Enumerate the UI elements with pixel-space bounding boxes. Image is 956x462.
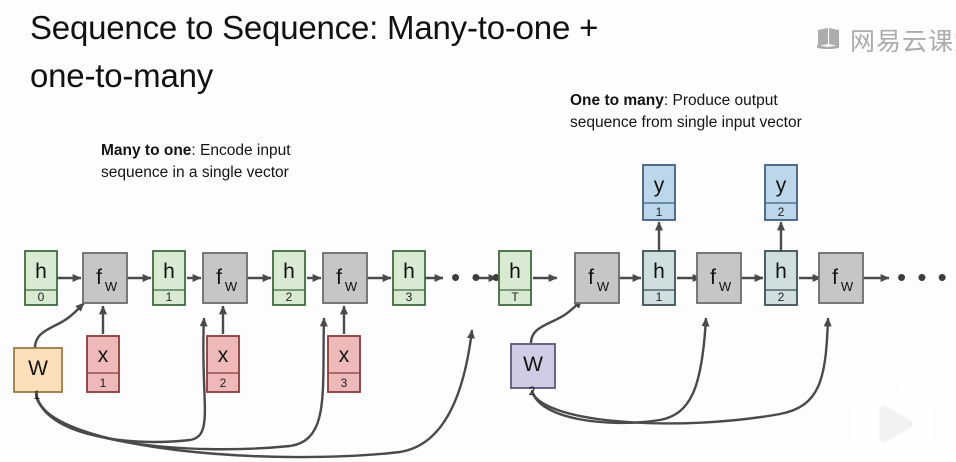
decoder-weight-w2: W 2 <box>511 344 555 398</box>
hidden-label: h <box>653 260 665 283</box>
weight-label: W <box>523 353 543 376</box>
cell-label: f <box>216 266 222 289</box>
encoder-cell-2: f W <box>323 253 367 303</box>
hidden-sub: T <box>511 290 519 304</box>
encoder-cell-1: f W <box>203 253 247 303</box>
encoder-cell-0: f W <box>83 253 127 303</box>
input-sub: 2 <box>220 376 227 390</box>
encoder-hidden-h0: h 0 <box>25 251 57 305</box>
hidden-sub: 2 <box>778 290 785 304</box>
weight-sub: 2 <box>529 384 536 398</box>
cell-label: f <box>336 266 342 289</box>
cell-sub: W <box>597 279 610 294</box>
decoder-hidden-h2: h 2 <box>765 251 797 305</box>
cell-sub: W <box>841 279 854 294</box>
encoder-hidden-h3: h 3 <box>393 251 425 305</box>
encoder-input-x3: x 3 <box>328 336 360 392</box>
cell-label: f <box>588 266 594 289</box>
decoder-output-y1: y 1 <box>643 165 675 220</box>
cell-label: f <box>710 266 716 289</box>
cell-sub: W <box>345 279 358 294</box>
encoder-input-x2: x 2 <box>207 336 239 392</box>
encoder-hidden-h2: h 2 <box>273 251 305 305</box>
cell-sub: W <box>225 279 238 294</box>
hidden-label: h <box>509 260 521 283</box>
cell-sub: W <box>105 279 118 294</box>
hidden-sub: 1 <box>656 290 663 304</box>
cell-label: f <box>832 266 838 289</box>
hidden-label: h <box>403 260 415 283</box>
decoder-cell-0: f W <box>575 253 619 303</box>
output-label: y <box>654 174 665 197</box>
input-label: x <box>98 344 109 367</box>
cell-sub: W <box>719 279 732 294</box>
encoder-input-x1: x 1 <box>87 336 119 392</box>
hidden-sub: 0 <box>38 290 45 304</box>
decoder-output-y2: y 2 <box>765 165 797 220</box>
input-sub: 3 <box>341 376 348 390</box>
weight-label: W <box>28 357 48 380</box>
w2-weight-arrows <box>531 300 828 423</box>
encoder-weight-w1: W 1 <box>14 348 62 402</box>
hidden-sub: 1 <box>166 290 173 304</box>
hidden-sub: 3 <box>406 290 413 304</box>
hidden-label: h <box>35 260 47 283</box>
output-sub: 1 <box>656 205 663 219</box>
input-sub: 1 <box>100 376 107 390</box>
hidden-sub: 2 <box>286 290 293 304</box>
decoder-ellipsis: • • • <box>897 262 949 292</box>
output-sub: 2 <box>778 205 785 219</box>
weight-sub: 1 <box>34 388 41 402</box>
encoder-hidden-h1: h 1 <box>153 251 185 305</box>
hidden-label: h <box>163 260 175 283</box>
rnn-diagram: h 0 f W h 1 f W h 2 <box>0 0 956 462</box>
hidden-label: h <box>775 260 787 283</box>
input-label: x <box>339 344 350 367</box>
cell-label: f <box>96 266 102 289</box>
output-label: y <box>776 174 787 197</box>
encoder-ellipsis: • • • <box>451 262 503 292</box>
hidden-label: h <box>283 260 295 283</box>
input-label: x <box>218 344 229 367</box>
encoder-hidden-hT: h T <box>499 251 531 305</box>
decoder-cell-1: f W <box>697 253 741 303</box>
slide-canvas: Sequence to Sequence: Many-to-one + one-… <box>0 0 956 462</box>
decoder-cell-2: f W <box>819 253 863 303</box>
decoder-hidden-h1: h 1 <box>643 251 675 305</box>
